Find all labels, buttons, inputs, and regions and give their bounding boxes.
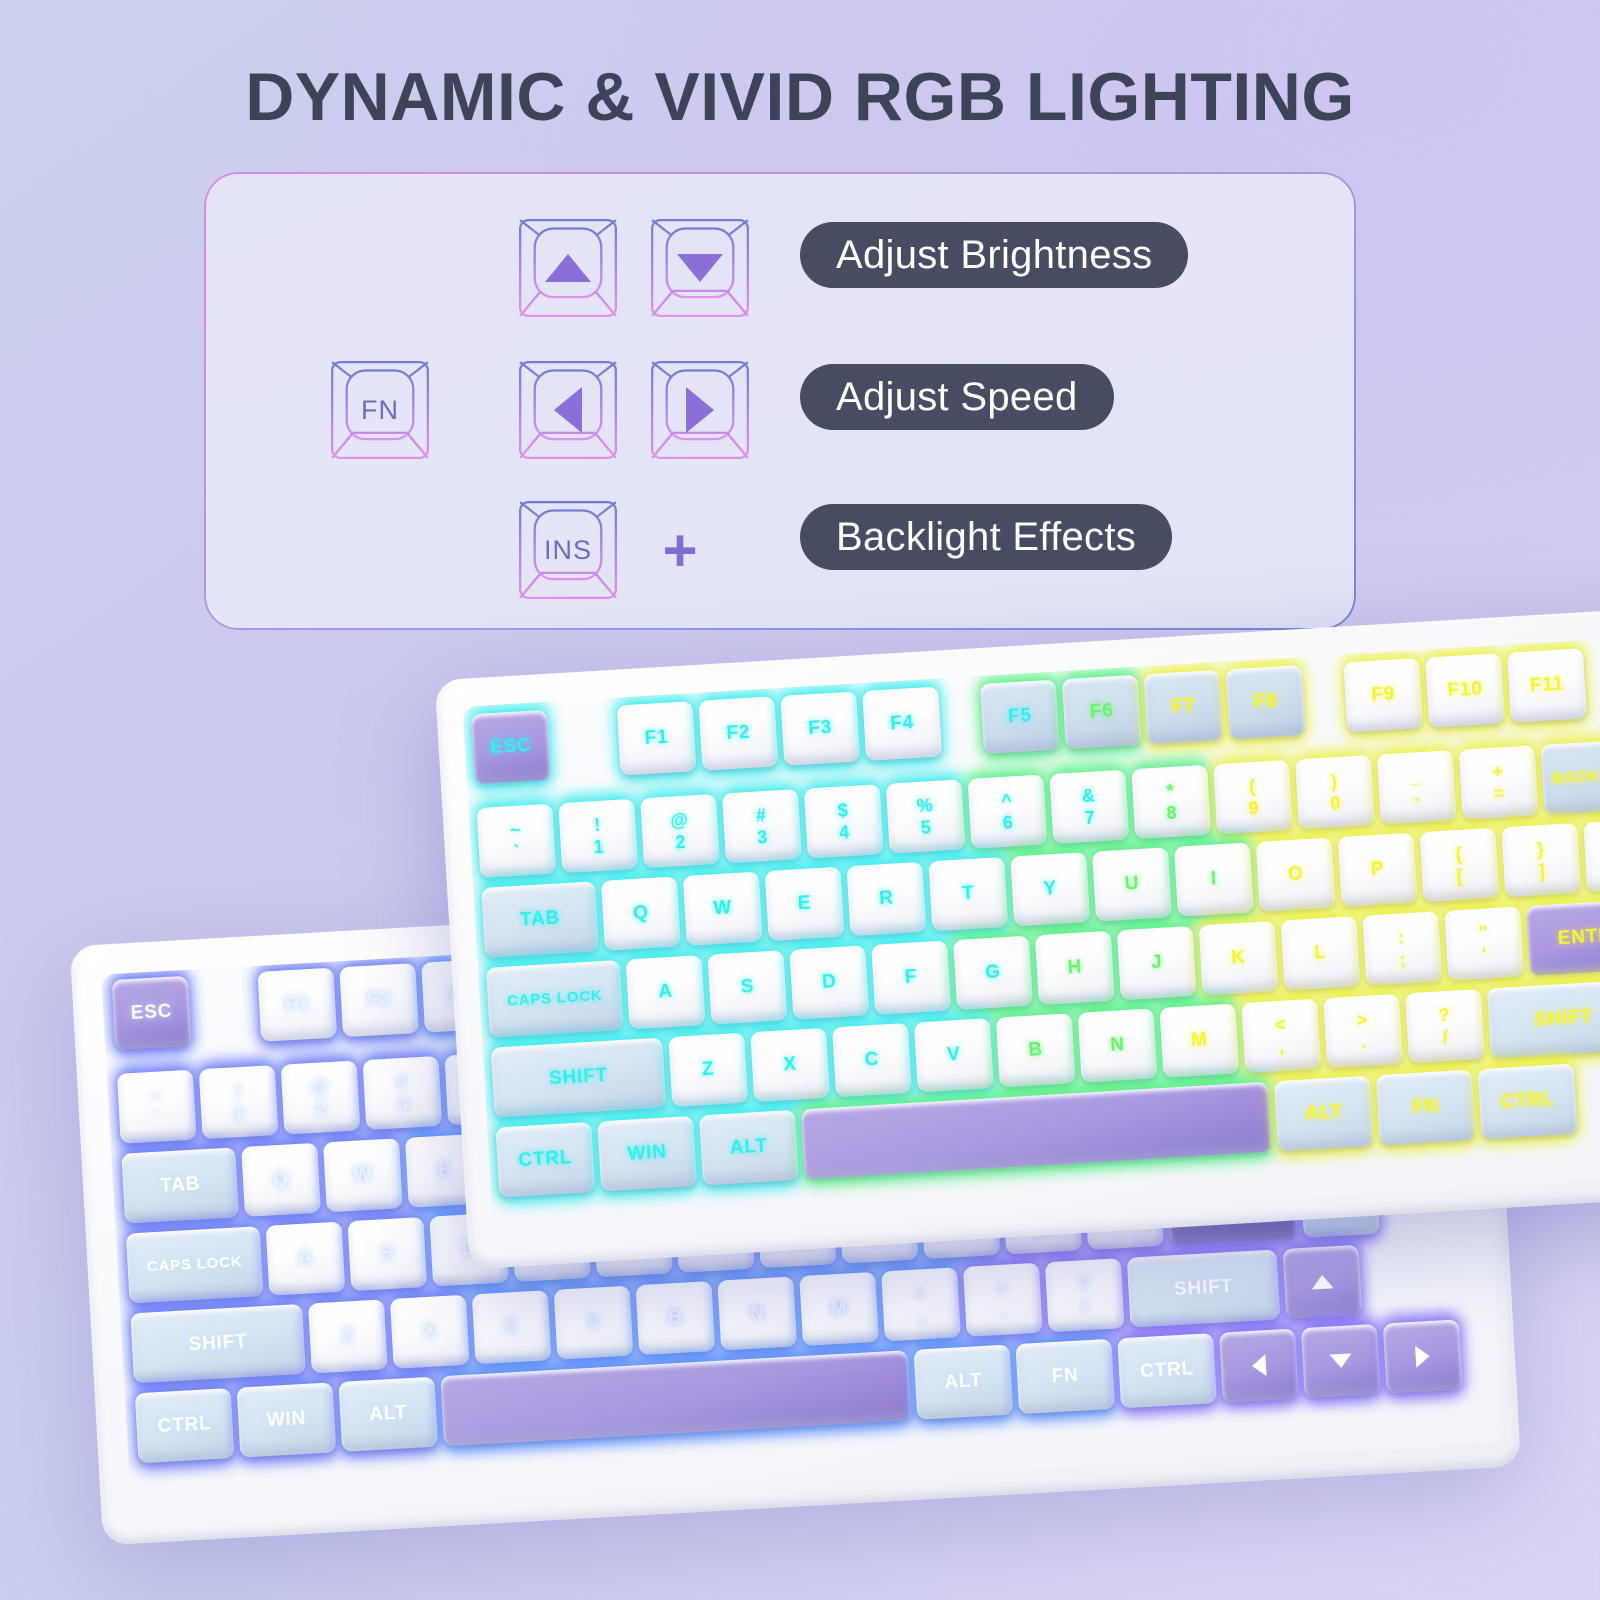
key-legend: X [783, 1055, 798, 1076]
key--[interactable]: !1 [558, 799, 638, 873]
key-arrow-left[interactable] [1219, 1329, 1299, 1403]
key-legend: Q [273, 1169, 290, 1190]
key-legend: M [1191, 1030, 1209, 1051]
key-legend: #3 [396, 1072, 409, 1113]
key-legend: T [962, 884, 976, 905]
key-legend: #3 [755, 806, 768, 847]
key-legend: F1 [644, 728, 669, 749]
upper-right-keyboard[interactable]: ESCF1F2F3F4F5F6F7F8F9F10F11~`!1@2#3$4%5^… [435, 602, 1600, 1270]
key-legend: ALT [944, 1371, 983, 1393]
arrow-up-icon [1311, 1274, 1334, 1289]
key-x[interactable]: X [390, 1295, 470, 1369]
key-legend: Z [341, 1326, 354, 1347]
key-legend: F8 [1253, 692, 1278, 713]
key-s[interactable]: S [707, 950, 787, 1024]
keycap-arrow-right-icon [648, 358, 752, 462]
key-m[interactable]: M [1159, 1003, 1239, 1077]
key-legend: SHIFT [1174, 1277, 1234, 1300]
key-tab[interactable]: TAB [121, 1147, 239, 1223]
key-legend: K [1231, 948, 1247, 969]
key-legend: ~` [510, 820, 524, 861]
key-legend: SHIFT [188, 1332, 248, 1355]
key-backspace[interactable]: BACKSPACE [1541, 738, 1600, 815]
key-legend: SHIFT [1534, 1007, 1594, 1030]
key-legend: >. [996, 1279, 1010, 1320]
key-f8[interactable]: F8 [1225, 665, 1305, 739]
key-p[interactable]: P [1338, 833, 1418, 907]
key-f10[interactable]: F10 [1425, 653, 1505, 727]
shortcut-info-panel: FN + INS [204, 172, 1356, 630]
key--[interactable]: #3 [722, 789, 802, 863]
key-legend: S [740, 977, 755, 998]
key--[interactable]: #3 [363, 1056, 443, 1130]
key-ctrl[interactable]: CTRL [135, 1388, 235, 1463]
key-enter[interactable]: ENTER [1526, 898, 1600, 975]
key-esc[interactable]: ESC [112, 976, 192, 1050]
key-legend: Q [633, 903, 650, 924]
key-z[interactable]: Z [668, 1033, 748, 1107]
key-legend: M [830, 1299, 848, 1320]
key-legend: CTRL [157, 1414, 212, 1437]
key-legend: F5 [1007, 706, 1032, 727]
key-shift[interactable]: SHIFT [491, 1038, 667, 1118]
key--[interactable]: ?/ [1045, 1258, 1125, 1332]
keycap-fn-icon: FN [328, 358, 432, 462]
key--[interactable]: )0 [1295, 755, 1375, 829]
key--[interactable]: <, [1241, 999, 1321, 1073]
key--[interactable]: &7 [1049, 770, 1129, 844]
shortcut-key-illustrations: FN + INS [204, 172, 844, 630]
key-q[interactable]: Q [241, 1143, 321, 1217]
key-b[interactable]: B [635, 1281, 715, 1355]
key-z[interactable]: Z [308, 1299, 388, 1373]
key-m[interactable]: M [799, 1272, 879, 1346]
key-legend: %5 [916, 796, 935, 838]
keycap-arrow-down-icon [648, 216, 752, 320]
key-s[interactable]: S [347, 1217, 427, 1291]
key-legend: ~` [150, 1086, 164, 1127]
key-legend: _- [1410, 767, 1423, 808]
key-legend: F6 [1089, 701, 1114, 722]
key-f2[interactable]: F2 [339, 963, 419, 1037]
key-arrow-up[interactable] [1282, 1245, 1362, 1319]
arrow-right-icon [1415, 1345, 1430, 1368]
key-legend: V [586, 1312, 601, 1333]
key-legend: W [713, 898, 733, 919]
key-h[interactable]: H [1035, 931, 1115, 1005]
key-legend: R [879, 889, 895, 910]
key-caps-lock[interactable]: CAPS LOCK [126, 1226, 264, 1303]
key-legend: B [1028, 1040, 1044, 1061]
keycap-ins-icon: INS [516, 498, 620, 602]
key-caps-lock[interactable]: CAPS LOCK [486, 960, 624, 1038]
key-ctrl[interactable]: CTRL [1478, 1064, 1578, 1140]
key-q[interactable]: Q [601, 876, 681, 950]
key-fn[interactable]: FN [1376, 1070, 1476, 1146]
key-legend: >. [1356, 1010, 1370, 1051]
key-legend: D [822, 972, 838, 993]
key-legend: O [1287, 864, 1304, 885]
key-legend: F1 [285, 994, 310, 1015]
key-win[interactable]: WIN [237, 1382, 337, 1457]
keycap-arrow-left-icon [516, 358, 620, 462]
row-spacer [194, 972, 252, 976]
key-legend: F3 [808, 718, 833, 739]
key-legend: <, [1274, 1015, 1288, 1056]
key-legend: TAB [160, 1174, 201, 1196]
key-legend: TAB [520, 908, 561, 930]
key-f1[interactable]: F1 [617, 701, 697, 775]
key-g[interactable]: G [953, 936, 1033, 1010]
key-legend: N [749, 1303, 765, 1324]
key-legend: S [380, 1244, 395, 1265]
key-legend: W [353, 1165, 373, 1186]
key-legend: X [422, 1321, 437, 1342]
key--[interactable]: ~` [117, 1070, 197, 1144]
key-legend: SHIFT [549, 1066, 609, 1089]
key-w[interactable]: W [683, 872, 763, 946]
key-b[interactable]: B [996, 1013, 1076, 1087]
key-l[interactable]: L [1280, 916, 1360, 990]
key-legend: J [1151, 953, 1164, 974]
key-legend: A [298, 1248, 314, 1269]
key-k[interactable]: K [1199, 921, 1279, 995]
key-v[interactable]: V [914, 1018, 994, 1092]
keyboard-plate: ESCF1F2F3F4F5F6F7F8F9F10F11~`!1@2#3$4%5^… [462, 630, 1600, 1246]
key-legend: F7 [1171, 696, 1196, 717]
key-legend: <, [914, 1284, 928, 1325]
key-legend: ^6 [1001, 791, 1015, 832]
key-legend: F11 [1529, 674, 1564, 696]
key-legend: F4 [890, 713, 915, 734]
key-alt[interactable]: ALT [338, 1377, 438, 1452]
key--[interactable]: *8 [1131, 765, 1211, 839]
key-f[interactable]: F [871, 940, 951, 1014]
key-f5[interactable]: F5 [980, 680, 1060, 754]
arrow-down-icon [1329, 1353, 1352, 1368]
key-legend: A [658, 982, 674, 1003]
key-alt[interactable]: ALT [699, 1110, 799, 1186]
key-legend: Z [702, 1060, 716, 1081]
key-legend: ENTER [1557, 925, 1600, 949]
key-legend: WIN [266, 1409, 306, 1431]
key--[interactable]: |\ [1583, 818, 1600, 893]
key-legend: ?/ [1438, 1005, 1452, 1046]
key-x[interactable]: X [750, 1028, 830, 1102]
key--[interactable]: <, [881, 1267, 961, 1341]
key-f9[interactable]: F9 [1343, 658, 1423, 732]
key-legend: "' [1478, 923, 1490, 964]
key-f2[interactable]: F2 [698, 696, 778, 770]
key--[interactable]: ?/ [1405, 989, 1485, 1063]
key-legend: F [904, 967, 918, 988]
key-legend: C [504, 1317, 520, 1338]
key-t[interactable]: T [928, 857, 1008, 931]
key-alt[interactable]: ALT [914, 1344, 1014, 1419]
key-legend: += [1492, 762, 1506, 803]
page-title: DYNAMIC & VIVID RGB LIGHTING [0, 58, 1600, 136]
key-a[interactable]: A [626, 955, 706, 1029]
key-legend: G [985, 962, 1002, 983]
row-spacer [944, 684, 974, 687]
key--[interactable]: >. [963, 1263, 1043, 1337]
key-a[interactable]: A [266, 1222, 346, 1296]
key-legend: &7 [1081, 786, 1097, 828]
row-spacer [553, 706, 611, 710]
keycap-arrow-up-icon [516, 216, 620, 320]
key-legend: F9 [1371, 685, 1396, 706]
key-legend: @2 [670, 810, 691, 852]
key--[interactable]: ^6 [968, 774, 1048, 848]
key-f6[interactable]: F6 [1062, 675, 1142, 749]
key-i[interactable]: I [1174, 842, 1254, 916]
key-arrow-right[interactable] [1383, 1319, 1463, 1393]
key--[interactable]: += [1459, 745, 1539, 819]
key-legend: ALT [1304, 1102, 1343, 1124]
key-legend: ALT [369, 1403, 408, 1425]
key-n[interactable]: N [1078, 1008, 1158, 1082]
key-legend: CTRL [518, 1148, 573, 1171]
key--[interactable]: }] [1501, 823, 1581, 897]
key--[interactable]: _- [1377, 750, 1457, 824]
key-legend: F2 [726, 723, 751, 744]
key-tab[interactable]: TAB [481, 881, 599, 958]
key--[interactable]: !1 [199, 1065, 279, 1139]
key-v[interactable]: V [554, 1286, 634, 1360]
key-legend: U [1124, 874, 1140, 895]
key-esc[interactable]: ESC [471, 710, 551, 784]
label-backlight-effects: Backlight Effects [800, 504, 1172, 570]
key-legend: FN [1051, 1366, 1079, 1387]
spacebar[interactable] [440, 1350, 911, 1446]
key-d[interactable]: D [789, 945, 869, 1019]
key-c[interactable]: C [472, 1290, 552, 1364]
key-r[interactable]: R [846, 862, 926, 936]
plus-sign: + [656, 527, 704, 575]
key-legend: ?/ [1078, 1275, 1092, 1316]
key-shift[interactable]: SHIFT [1127, 1249, 1281, 1327]
key-w[interactable]: W [323, 1138, 403, 1212]
key--[interactable]: (9 [1213, 760, 1293, 834]
key--[interactable]: "' [1444, 906, 1524, 980]
key-y[interactable]: Y [1010, 852, 1090, 926]
key-o[interactable]: O [1256, 837, 1336, 911]
key-c[interactable]: C [832, 1023, 912, 1097]
label-adjust-brightness: Adjust Brightness [800, 222, 1188, 288]
key-legend: FN [1412, 1097, 1440, 1119]
key-legend: ESC [490, 736, 533, 758]
key--[interactable]: @2 [281, 1060, 361, 1134]
row-spacer [1307, 663, 1337, 666]
key-ctrl[interactable]: CTRL [1117, 1333, 1217, 1408]
key-f11[interactable]: F11 [1507, 648, 1587, 722]
key-fn[interactable]: FN [1015, 1339, 1115, 1414]
key-f1[interactable]: F1 [257, 968, 337, 1042]
key-ctrl[interactable]: CTRL [495, 1122, 595, 1198]
key-legend: WIN [627, 1143, 667, 1165]
label-adjust-speed: Adjust Speed [800, 364, 1114, 430]
key-legend: L [1314, 943, 1328, 964]
key--[interactable]: @2 [640, 794, 720, 868]
key-legend: B [668, 1308, 684, 1329]
key-legend: F10 [1447, 679, 1483, 701]
key-shift[interactable]: SHIFT [130, 1304, 306, 1383]
key-e[interactable]: E [765, 867, 845, 941]
key-legend: CTRL [1500, 1090, 1555, 1113]
key-legend: ESC [130, 1002, 173, 1024]
key-legend: C [864, 1050, 880, 1071]
keycap-surface [1583, 818, 1600, 893]
key-legend: E [797, 894, 812, 915]
key-legend: F2 [367, 990, 392, 1011]
key-legend: !1 [232, 1081, 245, 1122]
key-f4[interactable]: F4 [862, 687, 942, 761]
key-legend: ALT [729, 1137, 768, 1159]
key--[interactable]: >. [1323, 994, 1403, 1068]
key-j[interactable]: J [1117, 926, 1197, 1000]
arrow-left-icon [1251, 1354, 1266, 1377]
key-shift[interactable]: SHIFT [1487, 980, 1600, 1059]
key-legend: CTRL [1140, 1359, 1195, 1382]
key--[interactable]: :; [1362, 911, 1442, 985]
key-legend: H [1067, 958, 1083, 979]
key-legend: Y [1043, 879, 1058, 900]
key-alt[interactable]: ALT [1274, 1076, 1374, 1152]
key-n[interactable]: N [717, 1276, 797, 1350]
key--[interactable]: ~` [476, 804, 556, 878]
key-f3[interactable]: F3 [780, 691, 860, 765]
key-f7[interactable]: F7 [1144, 670, 1224, 744]
key-legend: I [1210, 869, 1217, 889]
key-u[interactable]: U [1092, 847, 1172, 921]
key--[interactable]: %5 [886, 779, 966, 853]
key-arrow-down[interactable] [1301, 1324, 1381, 1398]
key--[interactable]: {[ [1419, 828, 1499, 902]
key-legend: @2 [310, 1077, 331, 1119]
key--[interactable]: $4 [804, 784, 884, 858]
key-legend: P [1370, 859, 1385, 880]
key-legend: E [438, 1160, 453, 1181]
key-legend: V [947, 1045, 962, 1066]
key-win[interactable]: WIN [597, 1116, 697, 1192]
key-legend: N [1110, 1035, 1126, 1056]
